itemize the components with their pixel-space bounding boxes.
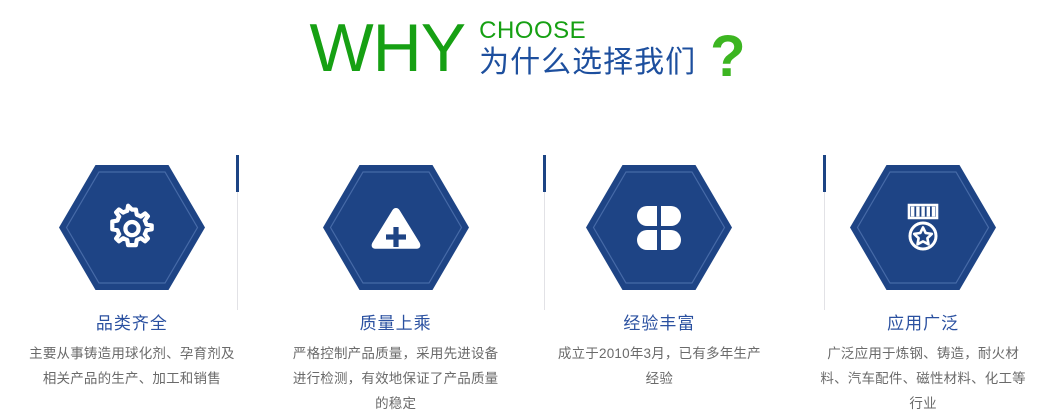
card-description: 严格控制产品质量，采用先进设备进行检测，有效地保证了产品质量的稳定 xyxy=(292,341,500,416)
card-divider-1 xyxy=(236,150,239,310)
hexagon-badge-2 xyxy=(323,163,469,292)
card-title: 应用广泛 xyxy=(887,314,959,334)
divider-blue-segment xyxy=(543,155,546,192)
triangle-plus-icon xyxy=(323,163,469,292)
heading-why: WHY xyxy=(309,14,465,82)
divider-blue-segment xyxy=(236,155,239,192)
card-description: 成立于2010年3月，已有多年生产经验 xyxy=(555,341,763,391)
divider-grey-segment xyxy=(544,192,545,310)
card-divider-2 xyxy=(543,150,546,310)
feature-cards-row: 品类齐全 主要从事铸造用球化剂、孕育剂及相关产品的生产、加工和销售 质量上乘 严… xyxy=(0,150,1055,416)
gear-icon xyxy=(59,163,205,292)
medal-icon xyxy=(850,163,996,292)
heading-text-stack: CHOOSE 为什么选择我们 xyxy=(479,18,696,80)
divider-grey-segment xyxy=(824,192,825,310)
divider-grey-segment xyxy=(237,192,238,310)
clover-icon xyxy=(586,163,732,292)
feature-card-3[interactable]: 经验丰富 成立于2010年3月，已有多年生产经验 xyxy=(528,150,792,416)
feature-card-2[interactable]: 质量上乘 严格控制产品质量，采用先进设备进行检测，有效地保证了产品质量的稳定 xyxy=(264,150,528,416)
hexagon-badge-4 xyxy=(850,163,996,292)
heading-chinese-title: 为什么选择我们 xyxy=(479,46,696,80)
card-divider-3 xyxy=(823,150,826,310)
card-title: 经验丰富 xyxy=(623,314,695,334)
heading-inner: WHY CHOOSE 为什么选择我们 ? xyxy=(309,0,745,88)
heading-question-mark: ? xyxy=(710,28,745,86)
feature-card-4[interactable]: 应用广泛 广泛应用于炼钢、铸造，耐火材料、汽车配件、磁性材料、化工等行业 xyxy=(791,150,1055,416)
feature-card-1[interactable]: 品类齐全 主要从事铸造用球化剂、孕育剂及相关产品的生产、加工和销售 xyxy=(0,150,264,416)
hexagon-badge-1 xyxy=(59,163,205,292)
section-heading: WHY CHOOSE 为什么选择我们 ? xyxy=(0,0,1055,100)
divider-blue-segment xyxy=(823,155,826,192)
hexagon-badge-3 xyxy=(586,163,732,292)
card-description: 广泛应用于炼钢、铸造，耐火材料、汽车配件、磁性材料、化工等行业 xyxy=(819,341,1027,416)
card-title: 质量上乘 xyxy=(360,314,432,334)
card-title: 品类齐全 xyxy=(96,314,168,334)
heading-choose: CHOOSE xyxy=(479,18,696,44)
card-description: 主要从事铸造用球化剂、孕育剂及相关产品的生产、加工和销售 xyxy=(28,341,236,391)
